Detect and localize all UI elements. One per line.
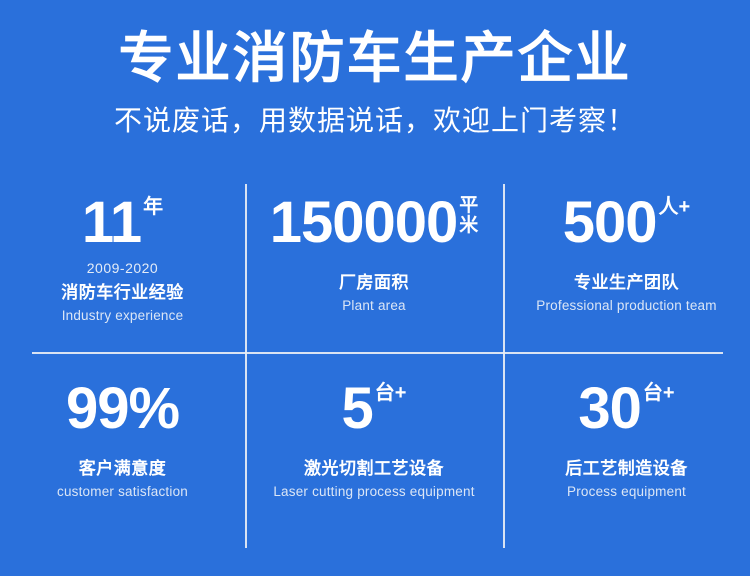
stat-year-range: 2009-2020 xyxy=(87,260,158,277)
stat-unit-second: 米 xyxy=(459,216,478,236)
page-title: 专业消防车生产企业 xyxy=(0,26,750,90)
banner-header: 专业消防车生产企业 不说废话，用数据说话，欢迎上门考察！ xyxy=(0,26,750,138)
stat-card: 11 年 2009-2020 消防车行业经验 Industry experien… xyxy=(0,178,245,352)
stat-label-en: Industry experience xyxy=(62,307,184,325)
stat-unit: 年 xyxy=(143,196,163,218)
stat-label-en: Process equipment xyxy=(567,483,686,501)
stat-plus: + xyxy=(679,196,691,218)
stat-label-cn: 厂房面积 xyxy=(339,272,409,294)
stat-suffix-row: 台 + xyxy=(375,382,407,404)
stat-number: 500 xyxy=(563,194,657,252)
stat-card: 500 人 + 专业生产团队 Professional production t… xyxy=(503,178,750,352)
stat-card: 99% 客户满意度 customer satisfaction xyxy=(0,352,245,550)
stats-grid: 11 年 2009-2020 消防车行业经验 Industry experien… xyxy=(0,178,750,550)
stat-value-line: 150000 平 米 xyxy=(270,194,479,252)
stat-suffix: 台 + xyxy=(643,382,675,404)
stat-label-cn: 消防车行业经验 xyxy=(61,282,184,304)
stat-label-cn: 客户满意度 xyxy=(79,458,167,480)
stat-suffix-row: 台 + xyxy=(643,382,675,404)
stat-card: 30 台 + 后工艺制造设备 Process equipment xyxy=(503,352,750,550)
stat-label-cn: 后工艺制造设备 xyxy=(565,458,688,480)
stat-number: 30 xyxy=(578,380,641,438)
stat-label-cn: 激光切割工艺设备 xyxy=(304,458,444,480)
stat-suffix: 人 + xyxy=(659,196,691,218)
stat-label-en: Plant area xyxy=(342,297,406,315)
stat-card: 5 台 + 激光切割工艺设备 Laser cutting process equ… xyxy=(245,352,503,550)
stat-card: 150000 平 米 厂房面积 Plant area xyxy=(245,178,503,352)
stat-label-cn: 专业生产团队 xyxy=(574,272,679,294)
stat-suffix: 平 米 xyxy=(459,196,478,236)
stat-label-en: Professional production team xyxy=(536,297,716,315)
promo-banner: 专业消防车生产企业 不说废话，用数据说话，欢迎上门考察！ 11 年 2009-2… xyxy=(0,0,750,576)
stat-label-en: Laser cutting process equipment xyxy=(273,483,474,501)
stat-value-line: 30 台 + xyxy=(578,380,674,438)
stat-unit: 台 xyxy=(375,382,395,404)
stat-plus: + xyxy=(663,382,675,404)
stat-number: 99% xyxy=(66,380,179,438)
stat-number: 11 xyxy=(82,194,141,252)
stat-value-line: 5 台 + xyxy=(342,380,407,438)
stat-suffix: 年 xyxy=(143,196,163,218)
stat-value-line: 500 人 + xyxy=(563,194,690,252)
stat-label-en: customer satisfaction xyxy=(57,483,188,501)
stat-unit: 人 xyxy=(659,196,679,218)
page-subtitle: 不说废话，用数据说话，欢迎上门考察！ xyxy=(0,104,750,138)
stat-unit: 平 xyxy=(459,196,478,216)
stat-suffix-row: 年 xyxy=(143,196,163,218)
stat-value-line: 99% xyxy=(66,380,179,438)
stat-number: 5 xyxy=(342,380,373,438)
stat-plus: + xyxy=(395,382,407,404)
stat-suffix: 台 + xyxy=(375,382,407,404)
stat-unit: 台 xyxy=(643,382,663,404)
stat-number: 150000 xyxy=(270,194,458,252)
stat-suffix-row: 人 + xyxy=(659,196,691,218)
stat-value-line: 11 年 xyxy=(82,194,163,252)
